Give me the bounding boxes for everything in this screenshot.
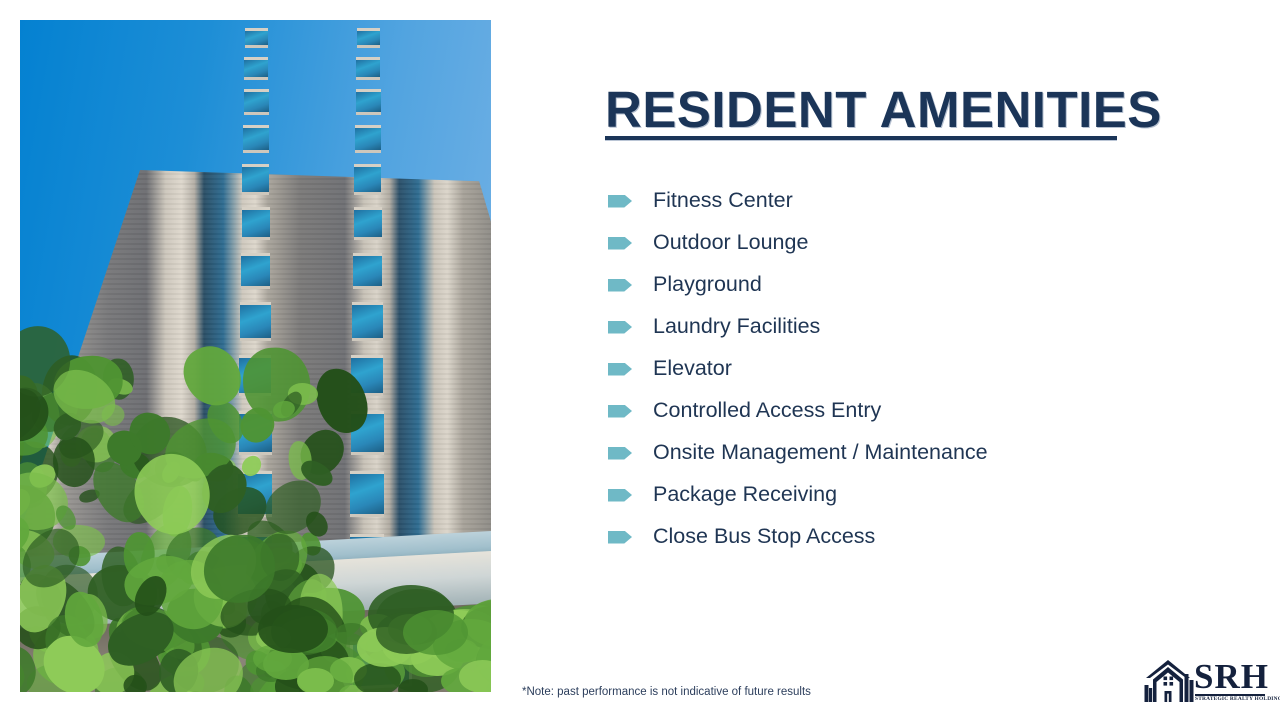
window (242, 207, 270, 240)
bullet-arrow-icon (608, 447, 632, 460)
shrub-blob (354, 663, 400, 692)
amenity-item: Laundry Facilities (608, 306, 1248, 348)
building-photo (20, 20, 491, 692)
window (354, 164, 381, 194)
window (353, 253, 383, 289)
bullet-arrow-icon (608, 489, 632, 502)
amenity-item: Package Receiving (608, 474, 1248, 516)
amenity-label: Controlled Access Entry (653, 400, 881, 422)
bullet-arrow-icon (608, 237, 632, 250)
bullet-arrow-icon (608, 531, 632, 544)
footnote-disclaimer: *Note: past performance is not indicativ… (522, 686, 811, 698)
amenity-item: Outdoor Lounge (608, 222, 1248, 264)
window (354, 207, 382, 240)
amenity-label: Onsite Management / Maintenance (653, 442, 988, 464)
amenity-item: Onsite Management / Maintenance (608, 432, 1248, 474)
slide-resident-amenities: RESIDENT AMENITIES Fitness CenterOutdoor… (0, 0, 1280, 720)
window (243, 125, 269, 153)
amenity-item: Elevator (608, 348, 1248, 390)
amenity-label: Laundry Facilities (653, 316, 820, 338)
amenity-label: Outdoor Lounge (653, 232, 808, 254)
srh-logo: SRH STRATEGIC REALTY HOLDINGS (1142, 658, 1266, 704)
amenity-label: Fitness Center (653, 190, 793, 212)
amenity-label: Playground (653, 274, 762, 296)
bullet-arrow-icon (608, 321, 632, 334)
amenity-item: Playground (608, 264, 1248, 306)
window (355, 125, 381, 153)
amenity-label: Package Receiving (653, 484, 837, 506)
logo-initials: SRH (1194, 657, 1269, 697)
window (242, 164, 269, 194)
amenity-item: Close Bus Stop Access (608, 516, 1248, 558)
shrub-blob (258, 605, 328, 654)
house-building-icon (1142, 658, 1196, 704)
content-panel: RESIDENT AMENITIES Fitness CenterOutdoor… (520, 0, 1280, 720)
bullet-arrow-icon (608, 405, 632, 418)
foliage-blob (309, 363, 374, 439)
window (356, 89, 381, 114)
bullet-arrow-icon (608, 279, 632, 292)
title-underline (605, 136, 1117, 140)
amenity-item: Fitness Center (608, 180, 1248, 222)
bullet-arrow-icon (608, 363, 632, 376)
shrub-blob (297, 668, 334, 692)
window (356, 57, 380, 80)
shrub-blob (398, 679, 428, 692)
foliage-blob (175, 337, 250, 415)
shrub-blob (403, 610, 468, 655)
window (244, 57, 268, 80)
amenity-item: Controlled Access Entry (608, 390, 1248, 432)
logo-tagline: STRATEGIC REALTY HOLDINGS (1195, 696, 1267, 702)
window (241, 253, 271, 289)
page-title: RESIDENT AMENITIES (605, 80, 1162, 139)
window (357, 28, 380, 48)
bullet-arrow-icon (608, 195, 632, 208)
window (245, 28, 268, 48)
window (244, 89, 269, 114)
amenity-label: Close Bus Stop Access (653, 526, 875, 548)
amenities-list: Fitness CenterOutdoor LoungePlaygroundLa… (608, 180, 1248, 558)
amenity-label: Elevator (653, 358, 732, 380)
